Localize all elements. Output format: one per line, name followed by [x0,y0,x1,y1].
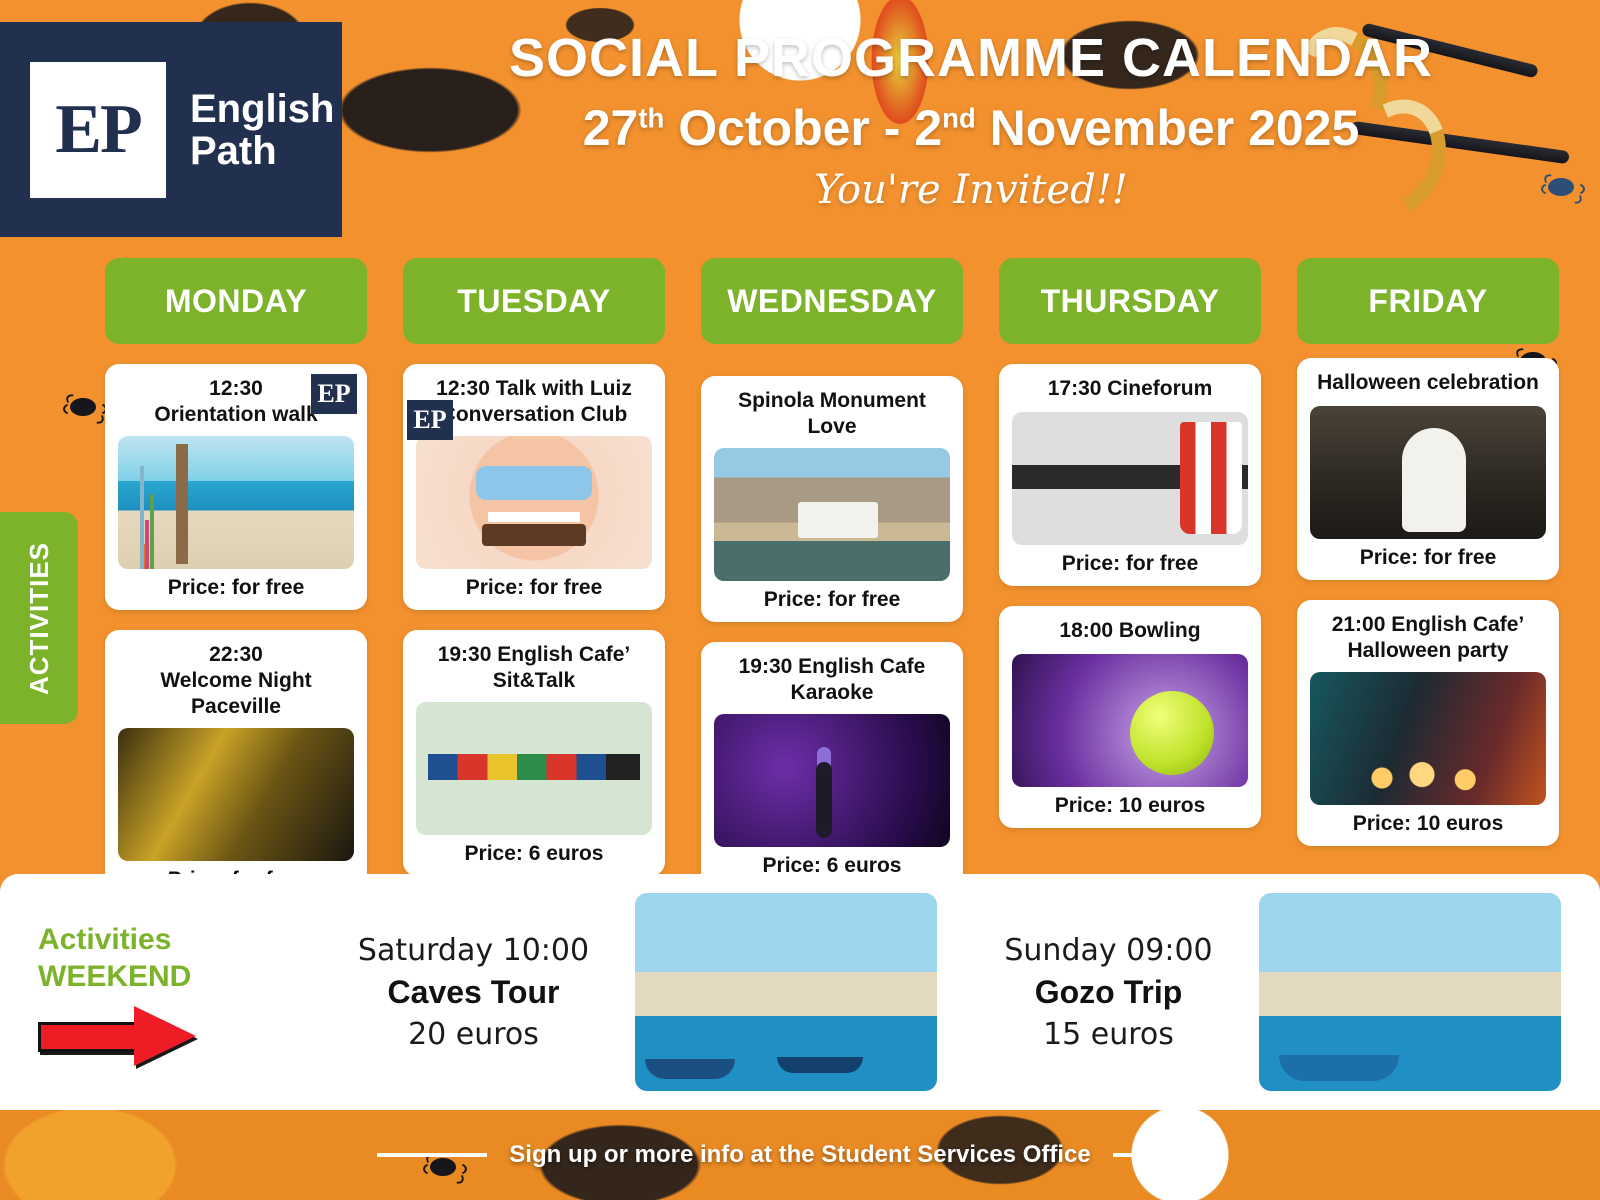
activities-side-tab-label: ACTIVITIES [24,541,55,694]
activity-price: Price: 10 euros [1055,794,1206,818]
activity-title: Spinola Monument Love [711,388,953,440]
date-end-ordinal: nd [942,102,976,133]
activity-card[interactable]: Halloween celebration Price: for free [1297,358,1559,580]
weekend-trip-price: 15 euros [1004,1017,1212,1052]
date-end-month: November 2025 [976,100,1360,156]
weekend-trip-name: Gozo Trip [1004,974,1212,1011]
date-start-day: 27 [583,100,639,156]
activity-card[interactable]: EP 12:30 Talk with Luiz Conversation Clu… [403,364,665,610]
activity-card[interactable]: 19:30 English Cafe’ Sit&Talk Price: 6 eu… [403,630,665,876]
day-column-wednesday: Spinola Monument Love Price: for free 19… [701,376,963,902]
activity-price: Price: for free [764,588,901,612]
poster-header: SOCIAL PROGRAMME CALENDAR 27th October -… [342,30,1600,213]
activity-card[interactable]: EP 12:30 Orientation walk Price: for fre… [105,364,367,610]
weekend-trip-text: Sunday 09:00 Gozo Trip 15 euros [1004,933,1212,1052]
english-path-logo: EP English Path [0,22,342,237]
activity-title: 19:30 English Cafe Karaoke [739,654,926,706]
weekday-calendar-grid: MONDAY TUESDAY WEDNESDAY THURSDAY FRIDAY… [105,258,1600,902]
activity-card[interactable]: 22:30 Welcome Night Paceville Price: for… [105,630,367,902]
page-title: SOCIAL PROGRAMME CALENDAR [342,30,1600,87]
activity-price: Price: for free [1062,552,1199,576]
cartoon-man-avatar-image [416,436,652,569]
weekend-trip-saturday[interactable]: Saturday 10:00 Caves Tour 20 euros [330,893,965,1091]
activity-title: 12:30 Talk with Luiz Conversation Club [436,376,632,428]
day-header-tuesday: TUESDAY [403,258,665,344]
beach-signpost-image [118,436,354,569]
activity-card[interactable]: Spinola Monument Love Price: for free [701,376,963,622]
activity-card[interactable]: 17:30 Cineforum Price: for free [999,364,1261,586]
logo-wordmark-line2: Path [190,130,334,172]
activity-price: Price: for free [1360,546,1497,570]
date-start-ordinal: th [638,102,664,133]
activity-title: 17:30 Cineforum [1048,376,1213,404]
date-start-month: October - [664,100,914,156]
poster-footer: Sign up or more info at the Student Serv… [0,1110,1600,1200]
logo-mark: EP [30,62,166,198]
ghost-with-black-cat-image [1310,406,1546,539]
ep-badge-icon: EP [311,374,357,414]
weekend-activities-strip: Activities WEEKEND Saturday 10:00 Caves … [0,874,1600,1110]
i-love-cinema-lightbox-image [1012,412,1248,545]
activity-title: 19:30 English Cafe’ Sit&Talk [438,642,631,694]
activities-side-tab: ACTIVITIES [0,512,78,724]
footer-text: Sign up or more info at the Student Serv… [509,1141,1090,1169]
activity-card[interactable]: 18:00 Bowling Price: 10 euros [999,606,1261,828]
spider-icon [70,398,96,416]
activity-title: 12:30 Orientation walk [154,376,317,428]
mgarr-gozo-harbour-image [1259,893,1561,1091]
party-confetti-image [118,728,354,861]
ep-badge-icon: EP [407,400,453,440]
weekend-label-line2: WEEKEND [38,958,330,996]
weekend-label-line1: Activities [38,921,330,959]
logo-wordmark: English Path [190,88,334,172]
activity-title: 21:00 English Cafe’ Halloween party [1332,612,1525,664]
weekend-trip-sunday[interactable]: Sunday 09:00 Gozo Trip 15 euros [965,893,1600,1091]
weekend-trip-text: Saturday 10:00 Caves Tour 20 euros [358,933,589,1052]
activity-title: 22:30 Welcome Night Paceville [115,642,357,720]
logo-wordmark-line1: English [190,88,334,130]
day-column-monday: EP 12:30 Orientation walk Price: for fre… [105,364,367,902]
marsaxlokk-harbour-boats-image [635,893,937,1091]
karaoke-singers-image [714,714,950,847]
day-header-friday: FRIDAY [1297,258,1559,344]
activity-title: 18:00 Bowling [1059,618,1200,646]
activity-price: Price: for free [466,576,603,600]
day-column-friday: Halloween celebration Price: for free 21… [1297,358,1559,902]
day-column-thursday: 17:30 Cineforum Price: for free 18:00 Bo… [999,364,1261,902]
activity-price: Price: 10 euros [1353,812,1504,836]
bowling-ball-lane-image [1012,654,1248,787]
weekend-trip-price: 20 euros [358,1017,589,1052]
date-range: 27th October - 2nd November 2025 [342,99,1600,157]
activity-title: Halloween celebration [1317,370,1539,398]
social-programme-poster: EP English Path SOCIAL PROGRAMME CALENDA… [0,0,1600,1200]
weekend-trip-when: Sunday 09:00 [1004,933,1212,968]
activity-card[interactable]: 19:30 English Cafe Karaoke Price: 6 euro… [701,642,963,888]
date-end-day: 2 [914,100,942,156]
invite-tagline: You're Invited!! [342,167,1600,213]
activity-price: Price: for free [168,576,305,600]
day-header-wednesday: WEDNESDAY [701,258,963,344]
day-header-monday: MONDAY [105,258,367,344]
students-with-flags-image [416,702,652,835]
weekend-trip-when: Saturday 10:00 [358,933,589,968]
day-header-thursday: THURSDAY [999,258,1261,344]
weekend-label-block: Activities WEEKEND [0,921,330,1064]
activity-price: Price: 6 euros [465,842,604,866]
right-arrow-icon [38,1008,200,1064]
footer-rule-left [377,1153,487,1157]
activity-card[interactable]: 21:00 English Cafe’ Halloween party Pric… [1297,600,1559,846]
halloween-party-toast-image [1310,672,1546,805]
footer-rule-right [1113,1153,1223,1157]
spinola-bay-love-monument-image [714,448,950,581]
day-column-tuesday: EP 12:30 Talk with Luiz Conversation Clu… [403,364,665,902]
weekend-trip-name: Caves Tour [358,974,589,1011]
